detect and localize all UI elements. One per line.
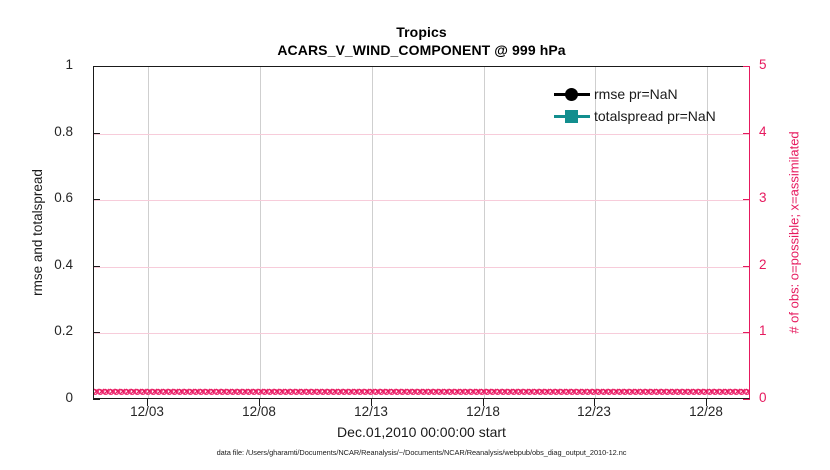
legend-label-rmse: rmse pr=NaN — [592, 86, 678, 102]
y-axis-tick-right — [743, 332, 750, 333]
y-axis-tick-label-right: 3 — [759, 190, 767, 205]
y-axis-tick-left — [93, 332, 100, 333]
legend-item-rmse: rmse pr=NaN — [552, 83, 744, 105]
vertical-gridline — [372, 67, 373, 398]
y-axis-tick-right — [743, 399, 750, 400]
y-axis-tick-label-left: 0 — [65, 390, 73, 405]
y-axis-title-left: rmse and totalspread — [27, 66, 47, 399]
vertical-gridline — [484, 67, 485, 398]
y-axis-tick-left — [93, 266, 100, 267]
y-axis-tick-left — [93, 66, 100, 67]
y-axis-title-right: # of obs: o=possible; x=assimilated — [784, 66, 804, 399]
legend-marker-rmse — [552, 85, 592, 103]
obs-assimilated-marker: × — [745, 387, 749, 398]
y-axis-tick-label-right: 4 — [759, 124, 767, 139]
chart-legend: rmse pr=NaN totalspread pr=NaN — [552, 81, 744, 129]
x-axis-tick-label: 12/13 — [354, 404, 388, 419]
y-axis-tick-right — [743, 66, 750, 67]
chart-title-block: Tropics ACARS_V_WIND_COMPONENT @ 999 hPa — [93, 24, 750, 59]
horizontal-gridline — [94, 267, 749, 268]
legend-marker-totalspread — [552, 107, 592, 125]
y-axis-tick-left — [93, 133, 100, 134]
y-axis-tick-left — [93, 199, 100, 200]
legend-item-totalspread: totalspread pr=NaN — [552, 105, 744, 127]
y-axis-tick-right — [743, 199, 750, 200]
y-axis-tick-label-right: 5 — [759, 57, 767, 72]
x-axis-tick-label: 12/03 — [130, 404, 164, 419]
x-axis-tick-label: 12/08 — [242, 404, 276, 419]
x-axis-title: Dec.01,2010 00:00:00 start — [93, 424, 750, 440]
y-axis-tick-right — [743, 266, 750, 267]
horizontal-gridline — [94, 333, 749, 334]
y-axis-tick-right — [743, 133, 750, 134]
page-title: Tropics — [93, 24, 750, 42]
y-axis-tick-label-left: 0.4 — [54, 257, 73, 272]
y-axis-tick-label-right: 1 — [759, 323, 767, 338]
chart-subtitle: ACARS_V_WIND_COMPONENT @ 999 hPa — [93, 42, 750, 60]
x-axis-tick-label: 12/28 — [689, 404, 723, 419]
figure-canvas: Tropics ACARS_V_WIND_COMPONENT @ 999 hPa… — [0, 0, 830, 470]
plot-area: o×o×o×o×o×o×o×o×o×o×o×o×o×o×o×o×o×o×o×o×… — [93, 66, 750, 399]
y-axis-tick-label-left: 0.8 — [54, 124, 73, 139]
y-axis-tick-label-left: 1 — [65, 57, 73, 72]
y-axis-tick-label-right: 0 — [759, 390, 767, 405]
horizontal-gridline — [94, 200, 749, 201]
y-axis-tick-left — [93, 399, 100, 400]
x-axis-tick-label: 12/18 — [466, 404, 500, 419]
x-axis-tick-label: 12/23 — [577, 404, 611, 419]
y-axis-title-right-text: # of obs: o=possible; x=assimilated — [787, 131, 802, 333]
vertical-gridline — [260, 67, 261, 398]
horizontal-gridline — [94, 134, 749, 135]
y-axis-tick-label-left: 0.6 — [54, 190, 73, 205]
data-file-caption: data file: /Users/gharamti/Documents/NCA… — [93, 448, 750, 457]
y-axis-title-left-text: rmse and totalspread — [30, 169, 45, 296]
y-axis-tick-label-right: 2 — [759, 257, 767, 272]
legend-label-totalspread: totalspread pr=NaN — [592, 108, 716, 124]
vertical-gridline — [148, 67, 149, 398]
y-axis-tick-label-left: 0.2 — [54, 323, 73, 338]
obs-marker-band: o×o×o×o×o×o×o×o×o×o×o×o×o×o×o×o×o×o×o×o×… — [94, 384, 749, 398]
